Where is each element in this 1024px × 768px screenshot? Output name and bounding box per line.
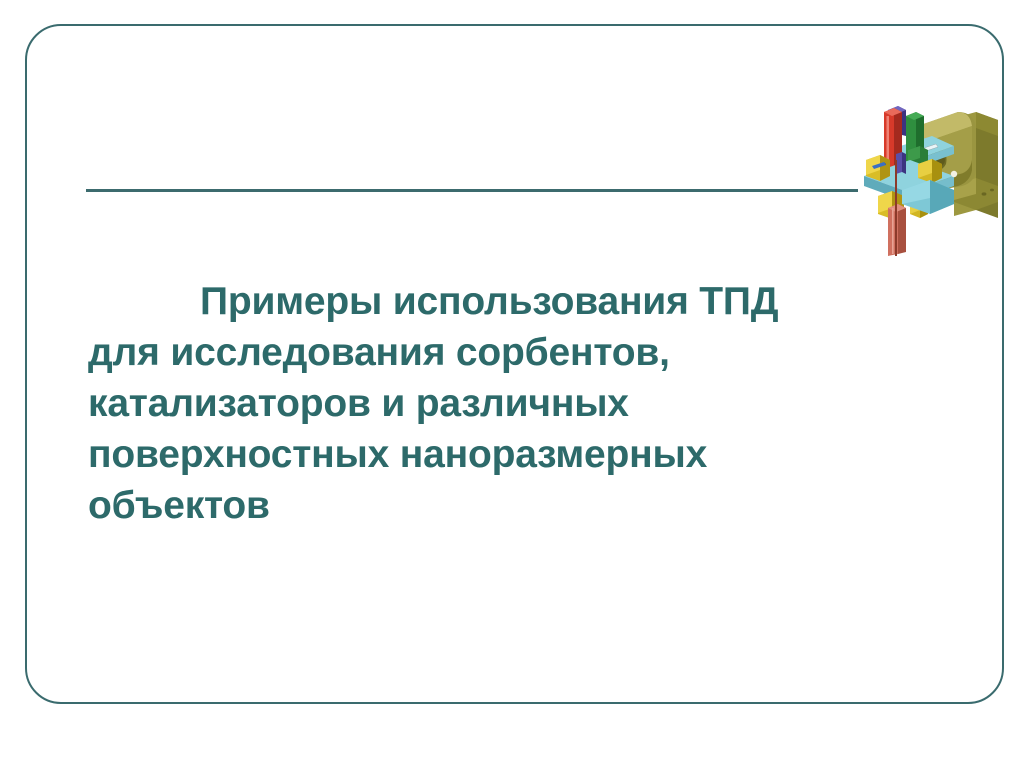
title-line-2: для исследования сорбентов, — [88, 327, 928, 378]
presentation-slide: Примеры использования ТПД для исследован… — [0, 0, 1024, 768]
horizontal-rule — [86, 189, 858, 192]
title-line-1: Примеры использования ТПД — [88, 276, 928, 327]
title-line-5: объектов — [88, 480, 928, 531]
title-line-3: катализаторов и различных — [88, 378, 928, 429]
cad-apparatus-illustration — [858, 98, 1006, 256]
title-line-4: поверхностных наноразмерных — [88, 429, 928, 480]
page-title: Примеры использования ТПД для исследован… — [88, 276, 928, 531]
